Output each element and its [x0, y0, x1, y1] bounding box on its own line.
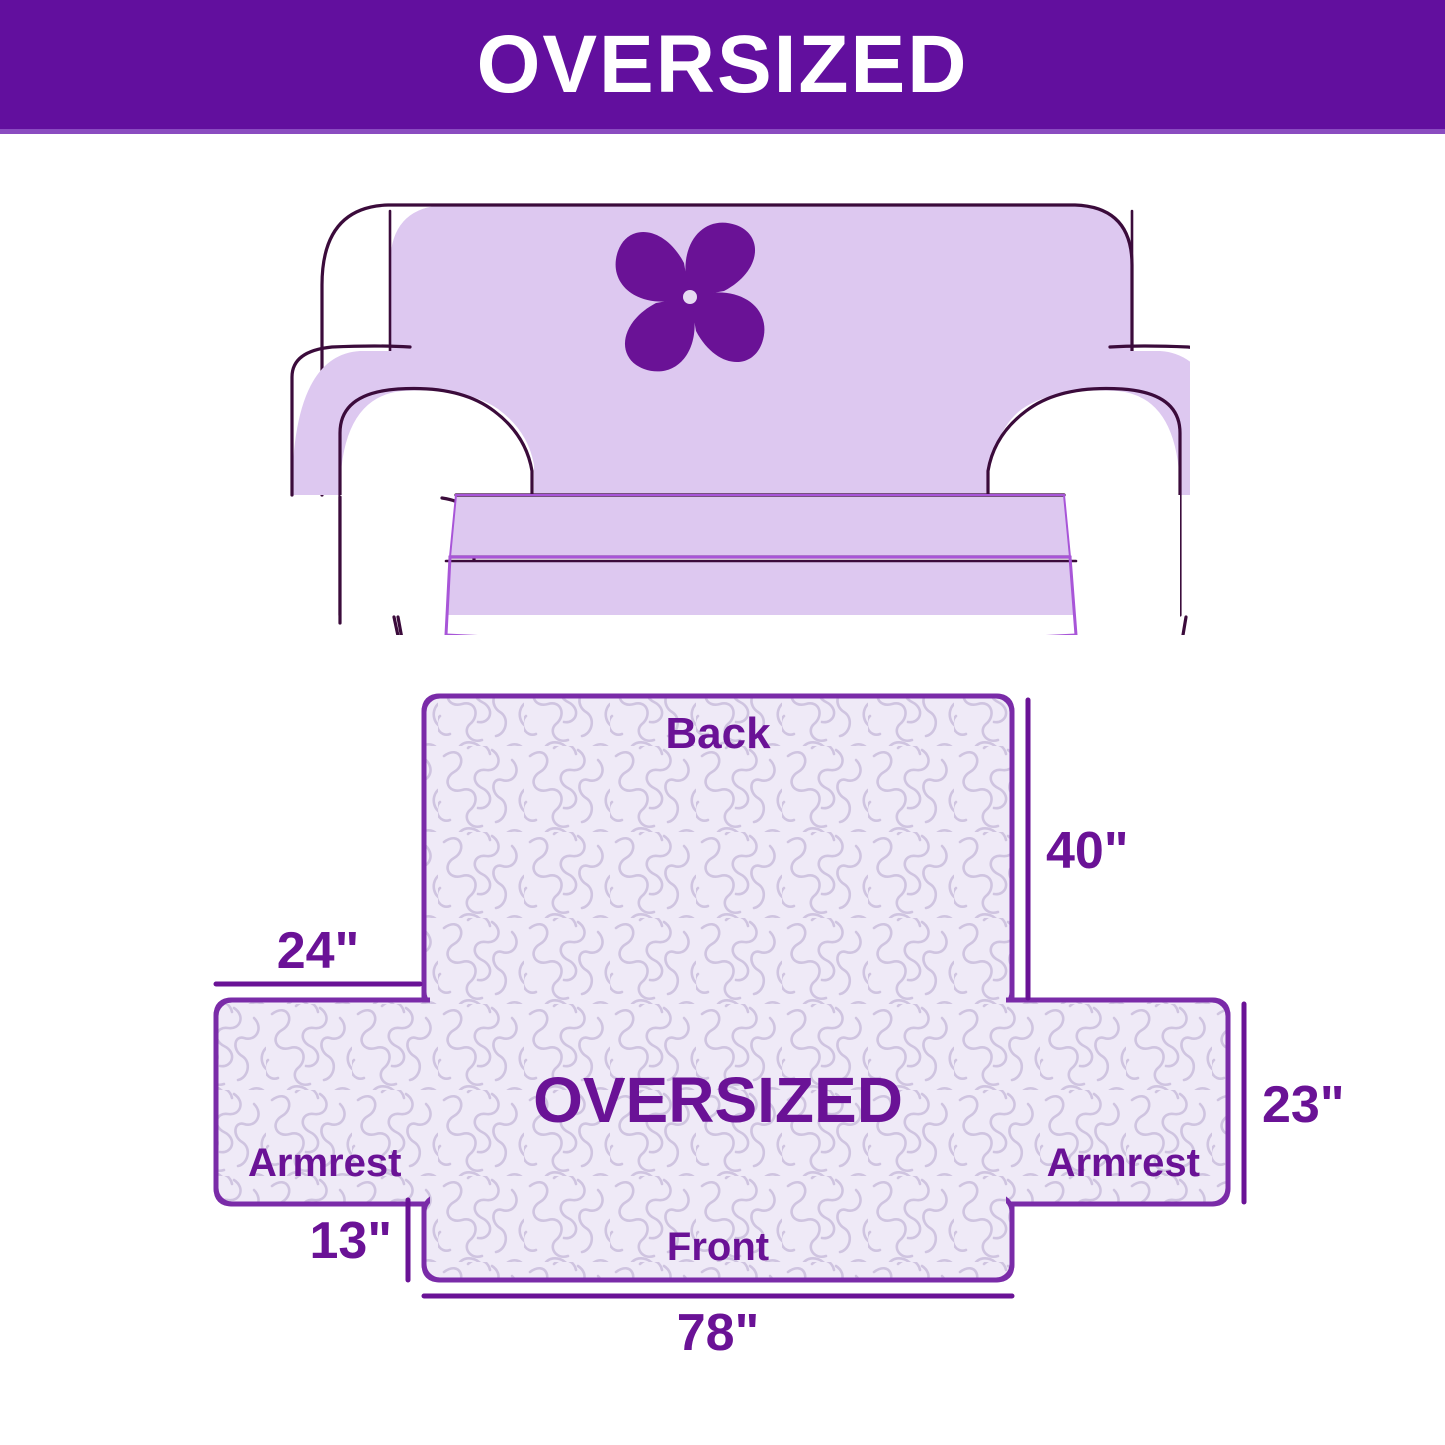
dimension-label-24: 24" [277, 922, 360, 980]
flat-pattern-diagram: .fab { fill:url(#quiltPattern); stroke:#… [180, 660, 1360, 1360]
panel-label-armrest-right: Armrest [1047, 1141, 1200, 1185]
dimension-label-13: 13" [310, 1212, 393, 1270]
sofa-illustration: .ol { fill:none; stroke:#3B0B3B; stroke-… [270, 165, 1190, 635]
center-label-oversized: OVERSIZED [533, 1064, 903, 1136]
dimension-label-40: 40" [1046, 822, 1129, 880]
panel-label-front: Front [667, 1225, 769, 1269]
header-banner: OVERSIZED [0, 0, 1445, 134]
dimension-label-23: 23" [1262, 1076, 1345, 1134]
panel-label-back: Back [665, 709, 771, 758]
page-title: OVERSIZED [0, 0, 1445, 129]
dimension-label-78: 78" [677, 1304, 760, 1360]
panel-label-armrest-left: Armrest [248, 1141, 401, 1185]
